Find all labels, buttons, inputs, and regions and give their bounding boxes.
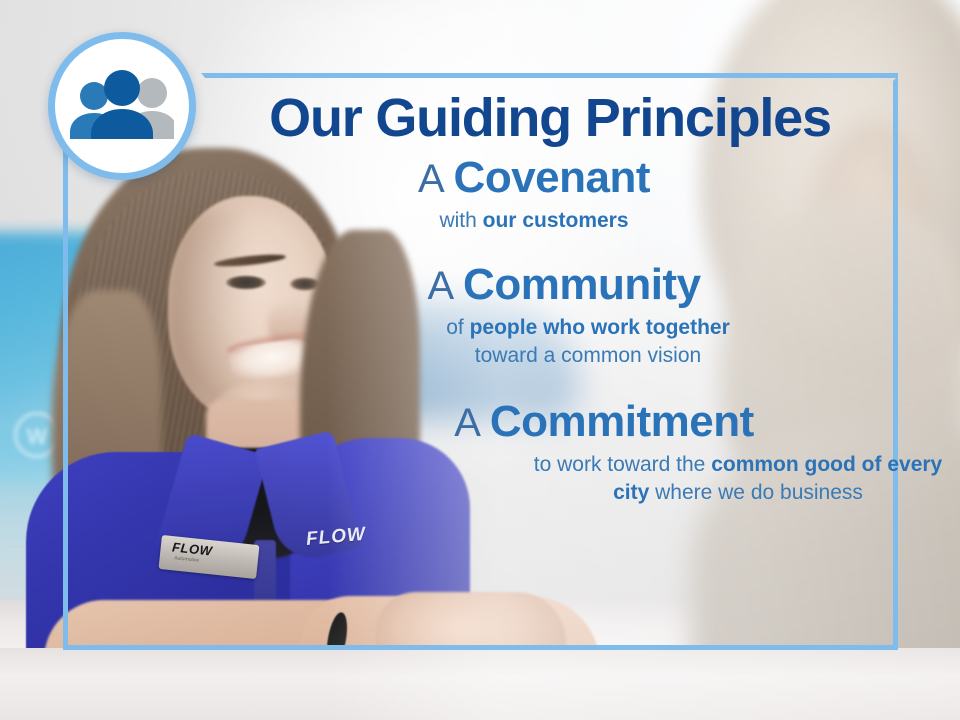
principle-commitment-heading: A Commitment <box>254 398 954 447</box>
principle-covenant-subtext: with our customers <box>184 207 884 235</box>
principle-covenant-sub-prefix: with <box>439 209 482 232</box>
principle-community-article: A <box>427 264 463 308</box>
people-group-icon-badge <box>48 32 196 180</box>
people-group-icon <box>70 69 174 143</box>
banner-content: Our Guiding Principles A Covenant with o… <box>200 88 900 507</box>
principle-commitment-sub-suffix: where we do business <box>649 481 863 504</box>
principle-community-sub-line2: toward a common vision <box>475 344 701 367</box>
principle-covenant-article: A <box>418 157 454 201</box>
principle-commitment-article: A <box>454 401 490 445</box>
tabletop-foreground <box>0 648 960 720</box>
principle-community-sub-strong: people who work together <box>470 316 730 339</box>
principle-community-subtext: of people who work together toward a com… <box>238 314 938 370</box>
principle-covenant-keyword: Covenant <box>454 153 650 202</box>
principle-community-sub-prefix: of <box>446 316 469 339</box>
principle-covenant-heading: A Covenant <box>184 154 884 203</box>
principle-community-keyword: Community <box>463 260 701 309</box>
principle-commitment-keyword: Commitment <box>490 397 754 446</box>
page-title: Our Guiding Principles <box>200 88 900 148</box>
principle-commitment-sub-prefix: to work toward the <box>534 453 711 476</box>
principle-community-heading: A Community <box>214 261 914 310</box>
banner-root: FLOW Automotive FLOW <box>0 0 960 720</box>
principle-commitment: A Commitment to work toward the common g… <box>254 398 954 507</box>
principle-covenant: A Covenant with our customers <box>184 154 884 235</box>
principle-covenant-sub-strong: our customers <box>483 209 629 232</box>
principle-community: A Community of people who work together … <box>214 261 914 370</box>
principle-commitment-subtext: to work toward the common good of every … <box>528 451 948 507</box>
decorative-frame-top-rule <box>215 73 898 78</box>
